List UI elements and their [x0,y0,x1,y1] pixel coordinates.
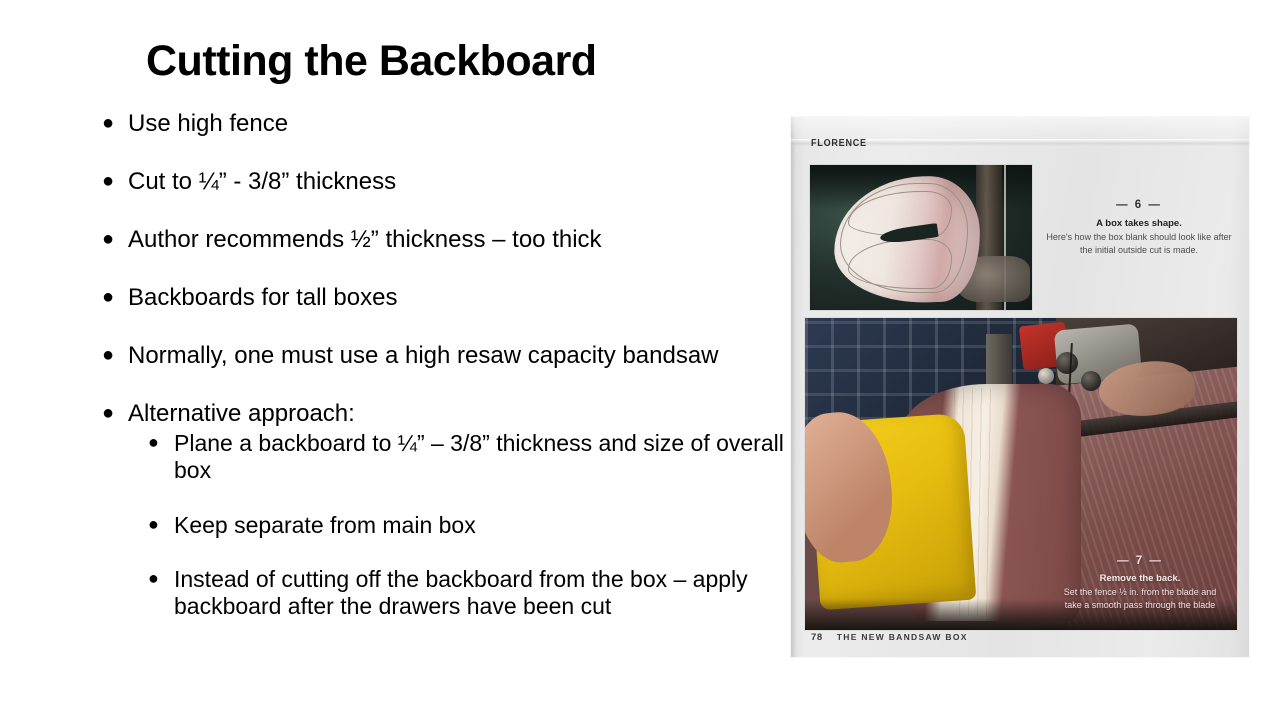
figure-6-caption: — 6 — A box takes shape. Here's how the … [1041,199,1237,257]
list-item: ● Keep separate from main box [142,512,796,539]
figure-number: — 7 — [1057,555,1223,567]
list-item-text: Cut to ¼” - 3/8” thickness [128,168,796,196]
figure-caption-text: Here's how the box blank should look lik… [1041,231,1237,257]
list-item: ● Alternative approach: [96,400,796,428]
bullet-dot-icon: ● [96,284,128,311]
bullet-dot-icon: ● [96,400,128,427]
bullet-dot-icon: ● [142,566,174,590]
figure-7-caption: — 7 — Remove the back. Set the fence ½ i… [1057,555,1223,612]
list-item: ● Instead of cutting off the backboard f… [142,566,796,619]
figure-caption-text: Set the fence ½ in. from the blade and t… [1057,586,1223,612]
figure-caption-title: A box takes shape. [1041,218,1237,229]
list-item-text: Author recommends ½” thickness – too thi… [128,226,796,254]
page-footer: 78 THE NEW BANDSAW BOX [811,632,968,643]
bullet-dot-icon: ● [96,342,128,369]
list-item: ● Backboards for tall boxes [96,284,796,312]
sub-bullet-list: ● Plane a backboard to ¼” – 3/8” thickne… [96,430,796,619]
list-item-text: Plane a backboard to ¼” – 3/8” thickness… [174,430,796,483]
list-item-text: Instead of cutting off the backboard fro… [174,566,796,619]
list-item: ● Author recommends ½” thickness – too t… [96,226,796,254]
list-item-text: Backboards for tall boxes [128,284,796,312]
adjust-knob [1056,352,1078,374]
bullet-dot-icon: ● [96,168,128,195]
figure-6-photo [809,164,1033,311]
book-title: THE NEW BANDSAW BOX [837,632,968,642]
list-item-text: Normally, one must use a high resaw capa… [128,342,796,370]
slide-canvas: Cutting the Backboard ● Use high fence ●… [0,0,1280,720]
list-item: ● Use high fence [96,110,796,138]
bullet-list: ● Use high fence ● Cut to ¼” - 3/8” thic… [96,110,796,648]
figure-caption-title: Remove the back. [1057,573,1223,584]
bullet-dot-icon: ● [96,110,128,137]
list-item: ● Normally, one must use a high resaw ca… [96,342,796,370]
page-spine-shadow [791,117,796,657]
book-page-image: FLORENCE — 6 — A box takes shape. Here's… [791,117,1249,657]
figure-number: — 6 — [1041,199,1237,211]
list-item-text: Use high fence [128,110,796,138]
list-item: ● Cut to ¼” - 3/8” thickness [96,168,796,196]
list-item-text: Keep separate from main box [174,512,796,539]
list-item-text: Alternative approach: [128,400,796,428]
bullet-dot-icon: ● [142,512,174,536]
page-title: Cutting the Backboard [146,38,786,84]
bullet-dot-icon: ● [142,430,174,454]
figure-7-photo: — 7 — Remove the back. Set the fence ½ i… [804,317,1238,631]
page-number: 78 [811,632,823,643]
running-header: FLORENCE [811,137,867,149]
bullet-dot-icon: ● [96,226,128,253]
list-item: ● Plane a backboard to ¼” – 3/8” thickne… [142,430,796,483]
